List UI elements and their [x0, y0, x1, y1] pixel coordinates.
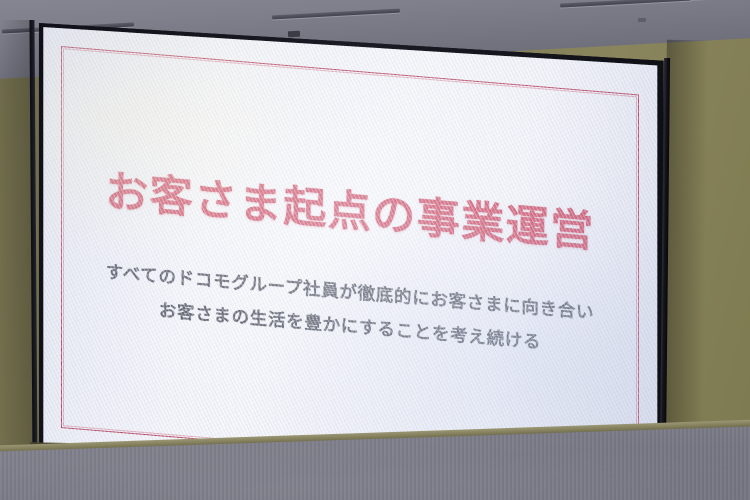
projection-screen[interactable]: お客さま起点の事業運営 すべてのドコモグループ社員が徹底的にお客さまに向き合い … — [30, 14, 670, 464]
ceiling-vent-2-icon — [638, 18, 646, 22]
slide-content: お客さま起点の事業運営 すべてのドコモグループ社員が徹底的にお客さまに向き合い … — [39, 21, 661, 457]
screen-panel: お客さま起点の事業運営 すべてのドコモグループ社員が徹底的にお客さまに向き合い … — [39, 21, 661, 457]
ceiling-vent-1-icon — [288, 31, 300, 38]
slide: お客さま起点の事業運営 すべてのドコモグループ社員が徹底的にお客さまに向き合い … — [39, 21, 661, 457]
slide-title: お客さま起点の事業運営 — [39, 163, 661, 263]
room-scene: お客さま起点の事業運営 すべてのドコモグループ社員が徹底的にお客さまに向き合い … — [0, 0, 750, 500]
